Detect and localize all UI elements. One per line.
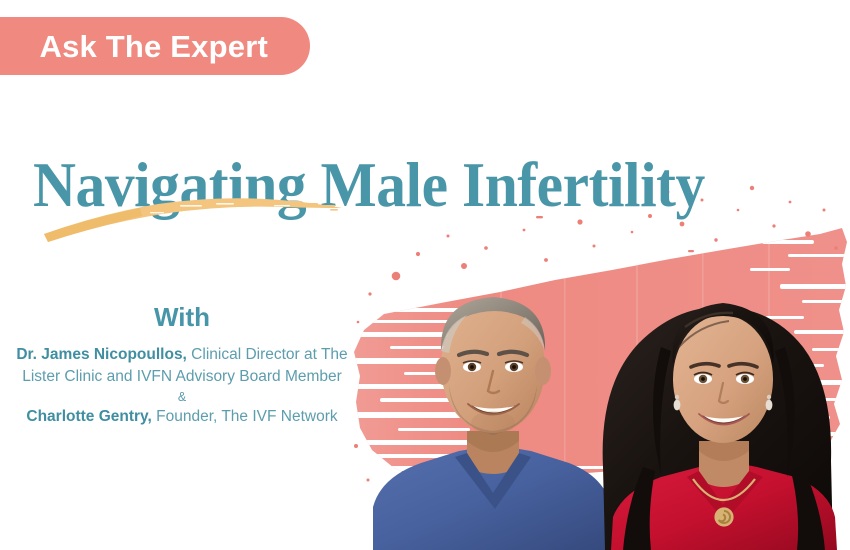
pink-brush-stroke-decoration	[350, 180, 850, 540]
page-title: Navigating Male Infertility	[33, 151, 684, 218]
presenters-photo	[355, 255, 850, 550]
earring-left	[674, 395, 681, 411]
earring-right	[766, 395, 773, 411]
poster-canvas: Ask The Expert Navigating Male Infertili…	[0, 0, 850, 550]
paint-splatter-group	[354, 186, 838, 482]
badge-label: Ask The Expert	[40, 31, 269, 62]
with-heading: With	[12, 303, 352, 332]
presenter-two-role: Founder, The IVF Network	[152, 408, 338, 425]
male-presenter-figure	[373, 297, 613, 550]
presenter-one-name: Dr. James Nicopoullos,	[16, 346, 187, 363]
presenter-one-line: Dr. James Nicopoullos, Clinical Director…	[12, 344, 352, 388]
swirl-pendant	[714, 507, 733, 526]
presenter-separator: &	[12, 388, 352, 407]
presenter-two-name: Charlotte Gentry,	[26, 408, 151, 425]
presenter-two-line: Charlotte Gentry, Founder, The IVF Netwo…	[12, 406, 352, 428]
ask-the-expert-badge: Ask The Expert	[0, 17, 310, 75]
female-presenter-figure	[603, 303, 837, 550]
with-block: With Dr. James Nicopoullos, Clinical Dir…	[12, 303, 352, 428]
